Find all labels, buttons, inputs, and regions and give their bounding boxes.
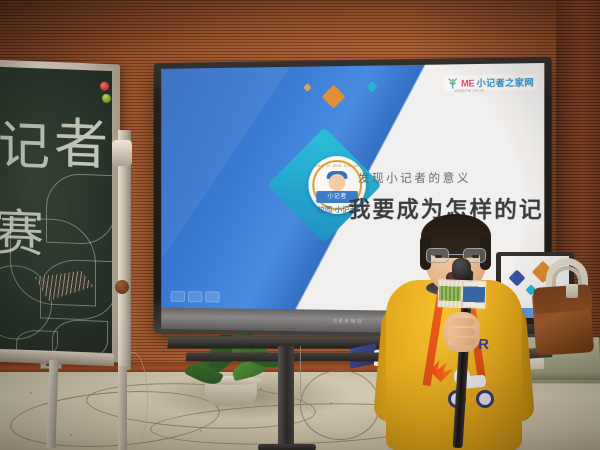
panel-stand-column [278, 346, 294, 450]
watermark-site-name: 小记者之家网 [476, 75, 534, 89]
photo-scene: 记 者 赛 [0, 0, 600, 450]
bag-flap [533, 284, 593, 314]
bag-clasp [566, 284, 578, 298]
panel-stand-foot [258, 444, 316, 450]
microphone-head [452, 258, 471, 280]
blue-logo-face [462, 280, 487, 309]
badge-face-icon [329, 174, 346, 191]
microphone-flag [438, 279, 487, 309]
chalk-char-2: 者 [54, 99, 108, 180]
watermark-mark: ME [461, 78, 474, 88]
slide-thumbnail-strip[interactable] [171, 291, 220, 302]
panel-brand-label: seewo [333, 317, 363, 324]
green-logo-face [438, 279, 463, 308]
chalkboard-post [118, 130, 131, 370]
slide-thumbnail[interactable] [171, 291, 185, 302]
student-speaker: MOR [378, 218, 530, 450]
slide-thumbnail[interactable] [188, 291, 202, 302]
chalkboard: 记 者 赛 [0, 60, 120, 363]
wall-shadow [0, 0, 600, 58]
badge-arc-text: XIAO JI ZHE ZHI JIA [308, 163, 366, 168]
chalkboard-leg [118, 366, 127, 450]
slide-subtitle: 发现小记者的意义 [358, 169, 471, 185]
magnet-green [102, 94, 111, 103]
chalkboard-clamp [112, 140, 132, 166]
watermark-tagline: xiaojizhe zhi jia [454, 88, 484, 92]
chalk-char-1: 记 [0, 103, 50, 180]
hand-holding-microphone [444, 312, 480, 352]
chalkboard-surface: 记 者 赛 [0, 67, 112, 353]
magnet-red [100, 82, 109, 91]
slide-thumbnail[interactable] [205, 291, 219, 302]
chalkboard-knob[interactable] [115, 280, 129, 294]
